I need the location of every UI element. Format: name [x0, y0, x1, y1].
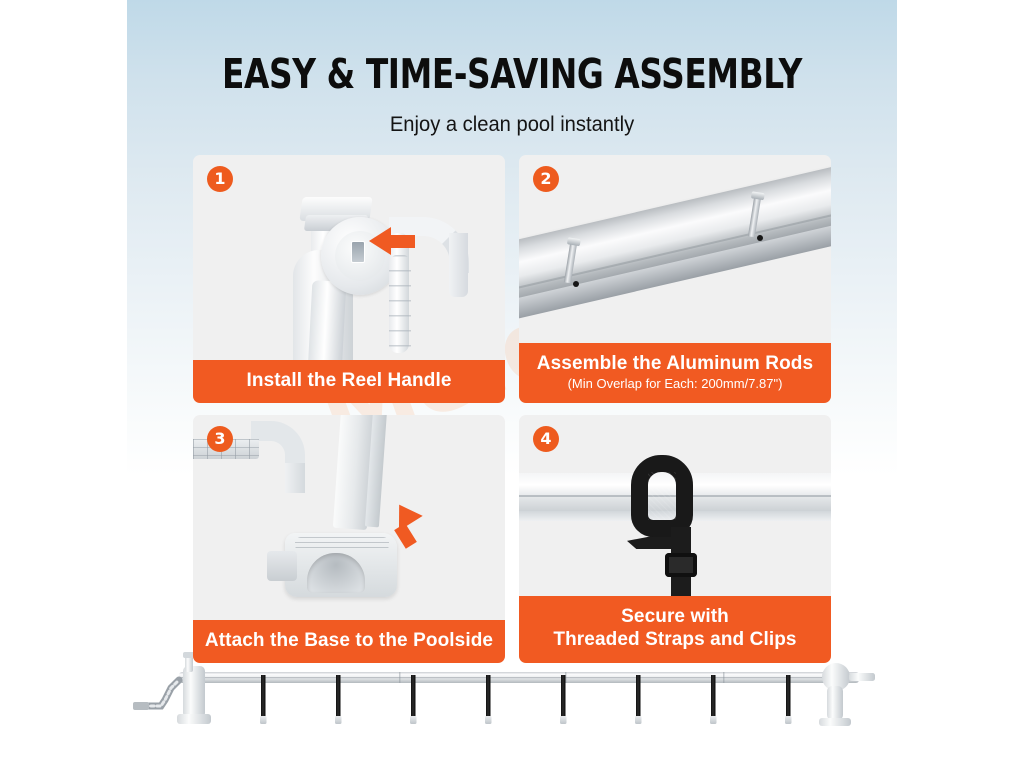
- step-caption-2-subtext: (Min Overlap for Each: 200mm/7.87"): [525, 376, 825, 392]
- steps-grid: 1 Install the Reel Handle 2 Assemble th: [193, 155, 831, 663]
- step-badge-1: 1: [207, 166, 233, 192]
- step-caption-1-text: Install the Reel Handle: [199, 369, 499, 392]
- page-subtitle: Enjoy a clean pool instantly: [142, 113, 881, 137]
- step-caption-1: Install the Reel Handle: [193, 360, 505, 403]
- page-title: EASY & TIME-SAVING ASSEMBLY: [204, 50, 820, 98]
- step-caption-4-text: Secure with Threaded Straps and Clips: [525, 605, 825, 651]
- step-caption-3: Attach the Base to the Poolside: [193, 620, 505, 663]
- infographic-stage: Melgo VEVOR EASY & TIME-SAVING ASSEMBLY …: [0, 0, 1024, 768]
- step-card-4: 4 Secure with Threaded Straps and Clips: [519, 415, 831, 663]
- step-caption-4: Secure with Threaded Straps and Clips: [519, 596, 831, 663]
- step-card-1: 1 Install the Reel Handle: [193, 155, 505, 403]
- content-canvas: Melgo VEVOR EASY & TIME-SAVING ASSEMBLY …: [127, 0, 897, 768]
- step-badge-4: 4: [533, 426, 559, 452]
- assembly-arrow-icon: [389, 235, 415, 248]
- step-badge-3: 3: [207, 426, 233, 452]
- step-badge-2: 2: [533, 166, 559, 192]
- step-card-2: 2 Assemble the Aluminum Rods (Min Overla…: [519, 155, 831, 403]
- step-caption-2-text: Assemble the Aluminum Rods: [525, 352, 825, 375]
- step-caption-2: Assemble the Aluminum Rods (Min Overlap …: [519, 343, 831, 403]
- step-caption-3-text: Attach the Base to the Poolside: [199, 629, 499, 652]
- step-card-3: 3 Attach the Base to the Poolside: [193, 415, 505, 663]
